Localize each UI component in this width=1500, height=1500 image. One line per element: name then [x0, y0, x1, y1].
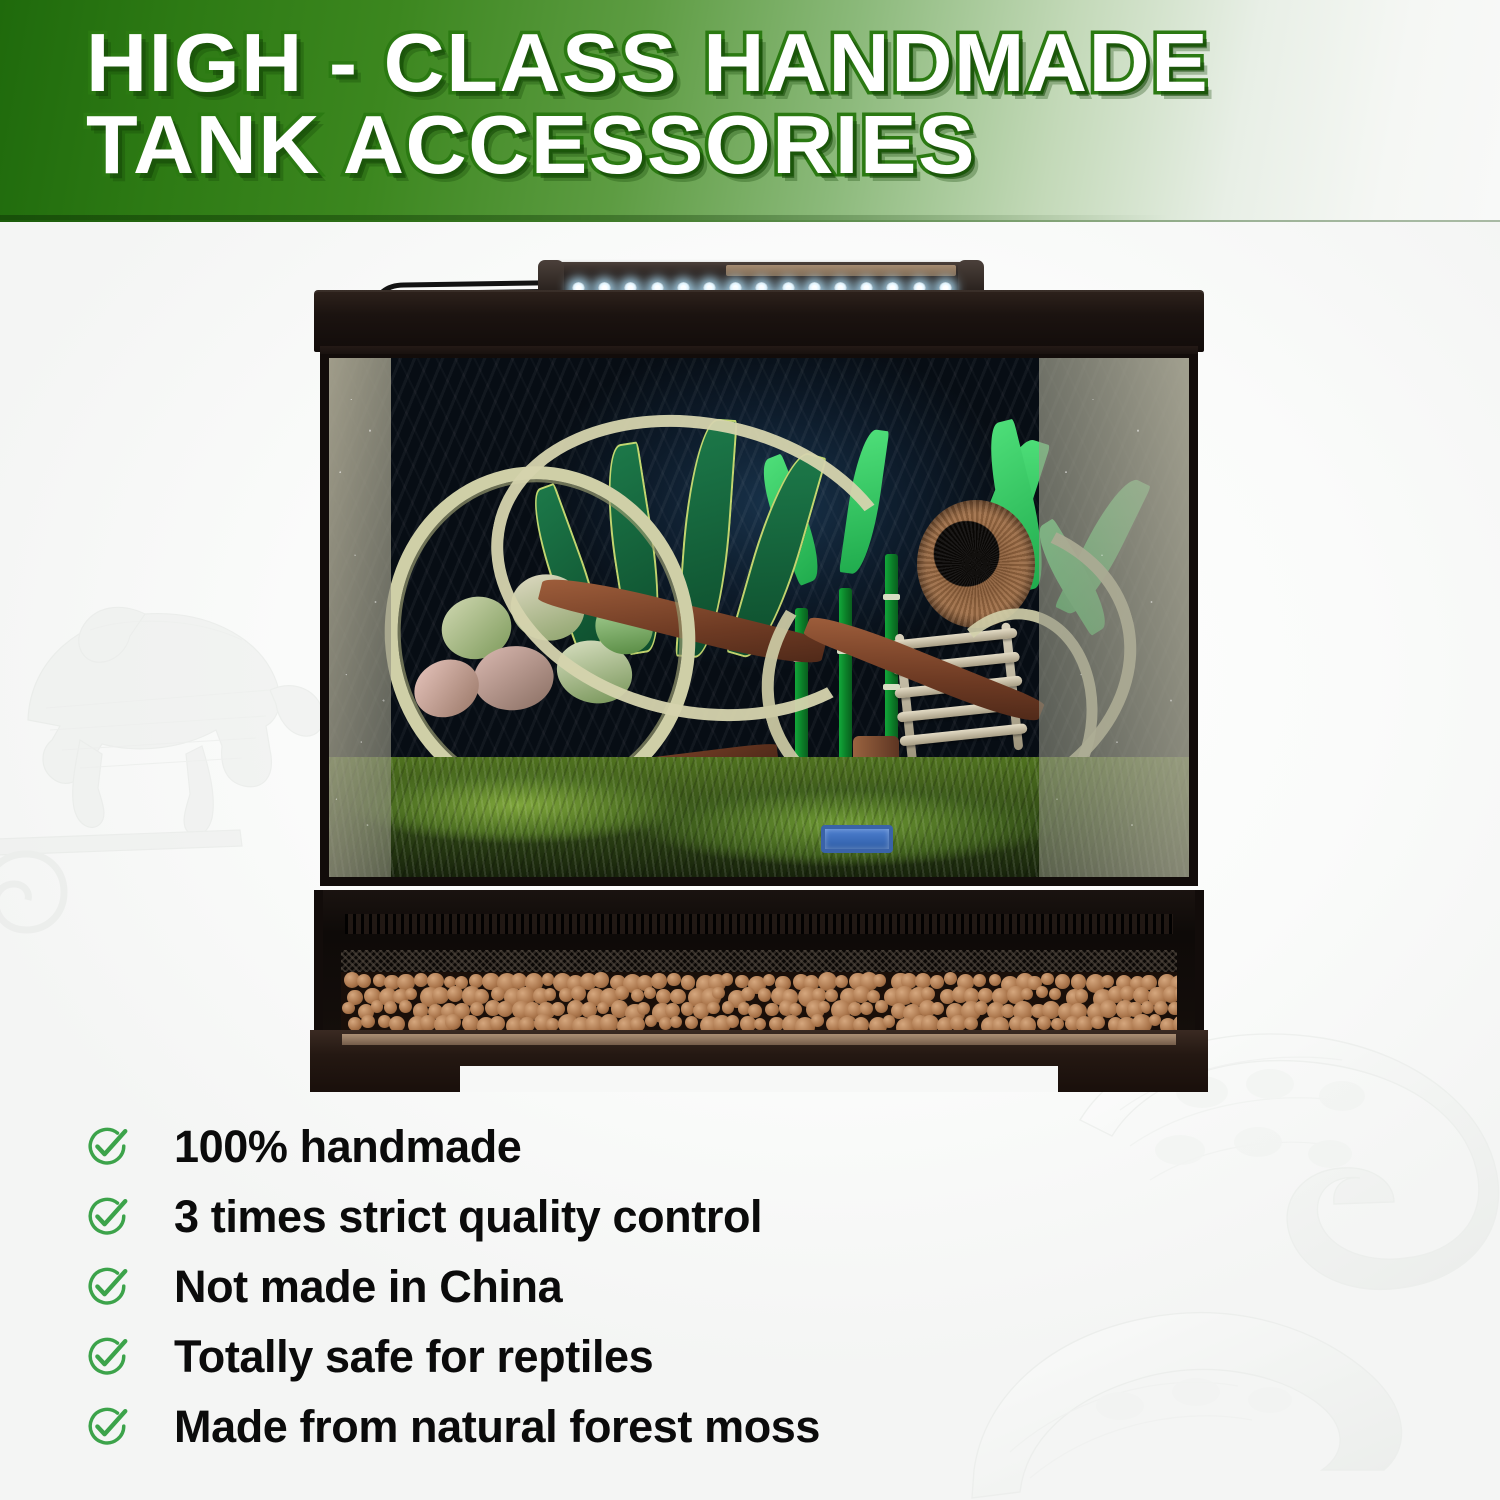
clay-pebble — [1100, 1000, 1117, 1017]
stand-foot-notch — [460, 1066, 1058, 1092]
clay-pebble — [974, 1001, 987, 1014]
chameleon-watermark — [0, 540, 330, 960]
stand-wood-highlight — [342, 1034, 1176, 1045]
headline-line-2: TANK ACCESSORIES — [86, 104, 1453, 186]
clay-pebble — [1055, 974, 1069, 988]
clay-pebble — [1071, 974, 1087, 990]
clay-pebble — [593, 972, 609, 988]
clay-pebble — [637, 1002, 651, 1016]
terrarium-tank — [300, 250, 1212, 1100]
clay-pebble — [944, 972, 957, 985]
clay-pebble — [597, 1002, 609, 1014]
clay-pebble — [883, 1015, 896, 1028]
clay-pebble — [818, 1001, 830, 1013]
tank-stand — [310, 1030, 1208, 1092]
water-dish — [821, 825, 893, 853]
light-bar-reflection — [726, 265, 956, 276]
clay-pebble — [681, 975, 695, 989]
clay-pebble — [931, 1002, 944, 1015]
clay-pebble — [342, 1002, 354, 1014]
clay-pebble — [685, 1016, 698, 1029]
glass-pane-right — [1039, 358, 1189, 877]
clay-pebble — [544, 988, 557, 1001]
clay-pebble — [361, 1015, 374, 1028]
clay-pebble — [707, 1002, 720, 1015]
feature-label: 100% handmade — [174, 1124, 521, 1170]
condensation-droplets — [329, 358, 391, 877]
clay-pebble — [470, 1002, 484, 1016]
clay-pebble — [631, 989, 644, 1002]
feature-label: 3 times strict quality control — [174, 1194, 762, 1240]
clay-pebble — [763, 974, 775, 986]
check-circle-icon — [84, 1404, 130, 1450]
ventilation-strip — [345, 914, 1173, 934]
clay-pebble — [1075, 989, 1088, 1002]
clay-pebble — [490, 1016, 505, 1031]
feature-list: 100% handmade3 times strict quality cont… — [84, 1112, 1084, 1462]
clay-pebble — [405, 988, 417, 1000]
glass-pane-left — [329, 358, 391, 877]
check-circle-icon — [84, 1334, 130, 1380]
clay-pebble — [741, 987, 755, 1001]
clay-pebble — [726, 1015, 739, 1028]
clay-pebble — [497, 1001, 513, 1017]
clay-pebble — [835, 975, 848, 988]
clay-pebble — [875, 1000, 888, 1013]
clay-pebble — [542, 973, 555, 986]
clay-pebble — [1037, 1016, 1051, 1030]
feature-label: Totally safe for reptiles — [174, 1334, 653, 1380]
clay-pebble — [445, 1014, 461, 1030]
clay-pebble — [765, 1003, 779, 1017]
clay-pebble — [758, 988, 771, 1001]
clay-pebble — [644, 987, 656, 999]
feature-item: 3 times strict quality control — [84, 1182, 1084, 1252]
feature-label: Made from natural forest moss — [174, 1404, 820, 1450]
clay-pebble — [645, 1015, 658, 1028]
clay-pebble — [1021, 988, 1033, 1000]
clay-pebble — [1049, 988, 1062, 1001]
clay-pebble — [1168, 1002, 1177, 1015]
check-circle-icon — [84, 1194, 130, 1240]
clay-pebble — [1036, 986, 1048, 998]
clay-pebble — [1141, 1001, 1154, 1014]
clay-pebble — [656, 989, 671, 1004]
headline-line-1: HIGH - CLASS HANDMADE — [86, 22, 1453, 104]
feature-label: Not made in China — [174, 1264, 562, 1310]
feature-item: 100% handmade — [84, 1112, 1084, 1182]
feature-item: Made from natural forest moss — [84, 1392, 1084, 1462]
clay-pebble — [754, 1018, 766, 1030]
clay-pebble — [1154, 1001, 1168, 1015]
feature-item: Totally safe for reptiles — [84, 1322, 1084, 1392]
clay-pebble — [651, 973, 667, 989]
clay-pebble — [1051, 1018, 1064, 1031]
check-circle-icon — [84, 1264, 130, 1310]
clay-pebble — [964, 1017, 977, 1030]
clay-pebble — [615, 986, 629, 1000]
clay-pebble — [399, 1000, 412, 1013]
tank-lower-compartment — [314, 890, 1204, 1035]
clay-pebble — [357, 974, 371, 988]
tank-canopy — [314, 290, 1204, 352]
clay-pebble — [873, 974, 886, 987]
clay-pebble — [721, 973, 733, 985]
clay-pebble — [571, 986, 586, 1001]
clay-pebble — [930, 975, 944, 989]
header-band: HIGH - CLASS HANDMADE TANK ACCESSORIES — [0, 0, 1500, 222]
clay-pebble — [1041, 973, 1054, 986]
clay-pebble — [811, 1014, 824, 1027]
clay-pebble — [712, 987, 725, 1000]
clay-pebble — [414, 973, 428, 987]
feature-item: Not made in China — [84, 1252, 1084, 1322]
clay-pebble — [860, 1002, 873, 1015]
vivarium-scene — [329, 358, 1189, 877]
clay-pebble — [1149, 1014, 1161, 1026]
clay-pebble — [371, 1000, 384, 1013]
clay-pebble — [1091, 1016, 1104, 1029]
clay-pebble — [722, 1001, 735, 1014]
clay-pebble — [973, 974, 986, 987]
clay-pebble — [546, 1018, 559, 1031]
condensation-droplets — [1039, 358, 1189, 877]
clay-pebble — [447, 986, 463, 1002]
clay-pebble — [667, 973, 681, 987]
clay-pebble — [491, 987, 505, 1001]
check-circle-icon — [84, 1124, 130, 1170]
headline: HIGH - CLASS HANDMADE TANK ACCESSORIES — [86, 22, 1426, 186]
clay-pebble — [989, 974, 1001, 986]
marketing-banner: HIGH - CLASS HANDMADE TANK ACCESSORIES — [0, 0, 1500, 1500]
tank-glass-panel — [320, 354, 1198, 886]
clay-pebble — [384, 1001, 397, 1014]
clay-pebble — [670, 1016, 682, 1028]
leca-clay-pebble-layer — [341, 972, 1177, 1032]
